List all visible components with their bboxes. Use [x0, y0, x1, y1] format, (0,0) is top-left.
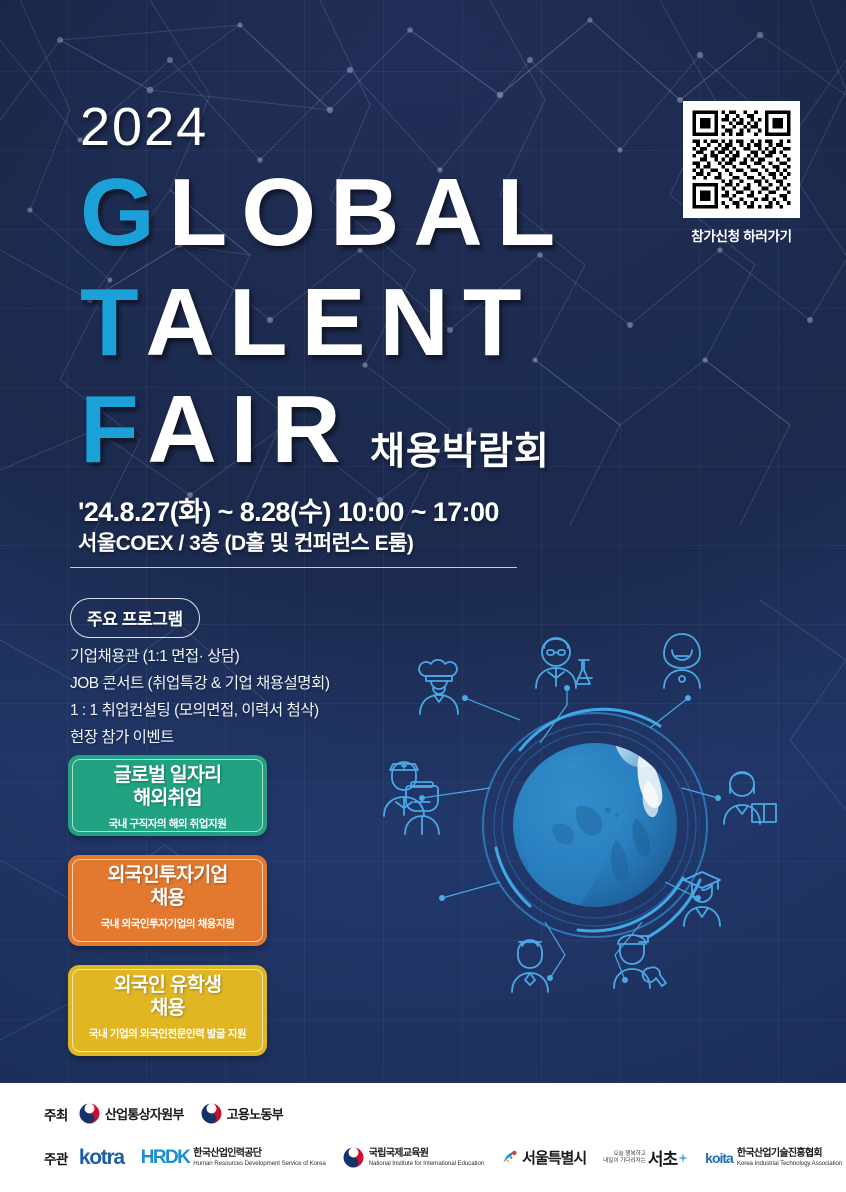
title-line-fair: FAIR	[80, 382, 355, 478]
koita-wordmark: koita	[705, 1150, 733, 1166]
footer-org-moel: 고용노동부	[201, 1103, 283, 1124]
footer-org-seoul: 서울특별시	[501, 1147, 586, 1168]
qr-block[interactable]: 참가신청 하러가기	[681, 101, 802, 245]
card-title-line2: 채용	[76, 887, 259, 910]
title-rest-talent: ALENT	[146, 269, 536, 376]
footer-org-hrdk: HRDK 한국산업인력공단 Human Resources Developmen…	[141, 1147, 326, 1169]
event-venue: 서울COEX / 3층 (D홀 및 컨퍼런스 E룸)	[78, 527, 413, 557]
poster-year: 2024	[80, 100, 208, 154]
card-title: 글로벌 일자리 해외취업	[76, 764, 259, 810]
program-item: 1 : 1 취업컨설팅 (모의면접, 이력서 첨삭)	[70, 701, 329, 721]
kotra-wordmark: kotra	[79, 1146, 124, 1170]
niied-name-kr: 국립국제교육원	[369, 1148, 484, 1160]
mechanic-icon	[664, 634, 700, 688]
program-item: 기업채용관 (1:1 면접· 상담)	[70, 647, 329, 667]
footer-org-motie: 산업통상자원부	[79, 1103, 184, 1124]
title-letter-f: F	[80, 376, 147, 483]
seoul-logo-icon	[501, 1150, 519, 1166]
card-title-line1: 외국인투자기업	[76, 864, 259, 887]
footer: 주최 산업통상자원부 고용노동부 주관	[0, 1083, 846, 1192]
flight-attendant-icon	[512, 940, 548, 992]
title-line-global: GLOBAL	[80, 165, 569, 261]
footer-org-niied: 국립국제교육원 National Institute for Internati…	[343, 1147, 484, 1168]
poster-canvas: 2024 GLOBAL TALENT FAIR 채용박람회	[0, 0, 846, 1192]
seocho-name: 서초	[648, 1145, 677, 1170]
footer-organizer-row: 주관 kotra HRDK 한국산업인력공단 Human Resources D…	[44, 1145, 846, 1170]
footer-organizer-label: 주관	[44, 1148, 68, 1168]
hrdk-name-en: Human Resources Development Service of K…	[193, 1160, 325, 1167]
taeguk-icon	[343, 1147, 364, 1168]
title-korean-subtitle: 채용박람회	[370, 420, 550, 475]
koita-name-kr: 한국산업기술진흥협회	[737, 1148, 842, 1160]
taeguk-icon	[79, 1103, 100, 1124]
footer-org-koita: koita 한국산업기술진흥협회 Korea Industrial Techno…	[705, 1148, 842, 1167]
footer-org-name: 고용노동부	[227, 1104, 283, 1123]
globe-illustration	[360, 610, 830, 1060]
card-description: 국내 구직자의 해외 취업지원	[76, 816, 259, 831]
program-item: JOB 콘서트 (취업특강 & 기업 채용설명회)	[70, 674, 329, 694]
title-letter-t: T	[80, 269, 146, 376]
card-description: 국내 기업의 외국인전문인력 발굴 지원	[76, 1026, 259, 1041]
event-datetime: '24.8.27(화) ~ 8.28(수) 10:00 ~ 17:00	[78, 490, 499, 529]
title-letter-g: G	[80, 159, 169, 266]
title-rest-global: LOBAL	[169, 159, 570, 266]
card-title: 외국인투자기업 채용	[76, 864, 259, 910]
divider-line	[70, 567, 517, 568]
hrdk-name-kr: 한국산업인력공단	[193, 1148, 325, 1160]
highlight-card-international-students: 외국인 유학생 채용 국내 기업의 외국인전문인력 발굴 지원	[68, 965, 267, 1056]
footer-host-row: 주최 산업통상자원부 고용노동부	[44, 1103, 300, 1124]
hrdk-wordmark: HRDK	[141, 1147, 190, 1169]
program-heading-pill: 주요 프로그램	[70, 598, 200, 638]
koita-name-en: Korea Industrial Technology Association	[737, 1160, 842, 1167]
niied-name-en: National Institute for International Edu…	[369, 1160, 484, 1167]
footer-host-label: 주최	[44, 1104, 68, 1124]
footer-org-seocho: 오늘 행복하고 내일이 기다려지는 서초	[603, 1145, 688, 1170]
footer-org-name: 산업통상자원부	[105, 1104, 184, 1123]
repairman-icon	[614, 935, 666, 988]
card-title-line1: 글로벌 일자리	[76, 764, 259, 787]
card-title-line1: 외국인 유학생	[76, 974, 259, 997]
teacher-icon	[724, 772, 776, 824]
chef-icon	[419, 660, 458, 714]
card-title: 외국인 유학생 채용	[76, 974, 259, 1020]
card-title-line2: 해외취업	[76, 787, 259, 810]
qr-code-icon[interactable]	[683, 101, 800, 218]
nurse-avatar-icon	[384, 762, 424, 816]
card-description: 국내 외국인투자기업의 채용지원	[76, 916, 259, 931]
highlight-card-list: 글로벌 일자리 해외취업 국내 구직자의 해외 취업지원 외국인투자기업 채용 …	[68, 755, 267, 1075]
taeguk-icon	[201, 1103, 222, 1124]
seocho-star-icon	[678, 1153, 688, 1163]
program-item: 현장 참가 이벤트	[70, 728, 329, 748]
seocho-tagline-2: 내일이 기다려지는	[603, 1158, 646, 1165]
title-rest-fair: AIR	[147, 376, 354, 483]
title-line-talent: TALENT	[80, 275, 535, 371]
program-list: 기업채용관 (1:1 면접· 상담) JOB 콘서트 (취업특강 & 기업 채용…	[70, 647, 329, 756]
footer-org-kotra: kotra	[79, 1146, 124, 1170]
seoul-name: 서울특별시	[522, 1147, 586, 1168]
qr-caption: 참가신청 하러가기	[681, 225, 802, 245]
highlight-card-foreign-investment: 외국인투자기업 채용 국내 외국인투자기업의 채용지원	[68, 855, 267, 946]
card-title-line2: 채용	[76, 997, 259, 1020]
scientist-icon	[536, 638, 592, 688]
highlight-card-global-jobs: 글로벌 일자리 해외취업 국내 구직자의 해외 취업지원	[68, 755, 267, 836]
seocho-tagline-1: 오늘 행복하고	[603, 1151, 646, 1158]
